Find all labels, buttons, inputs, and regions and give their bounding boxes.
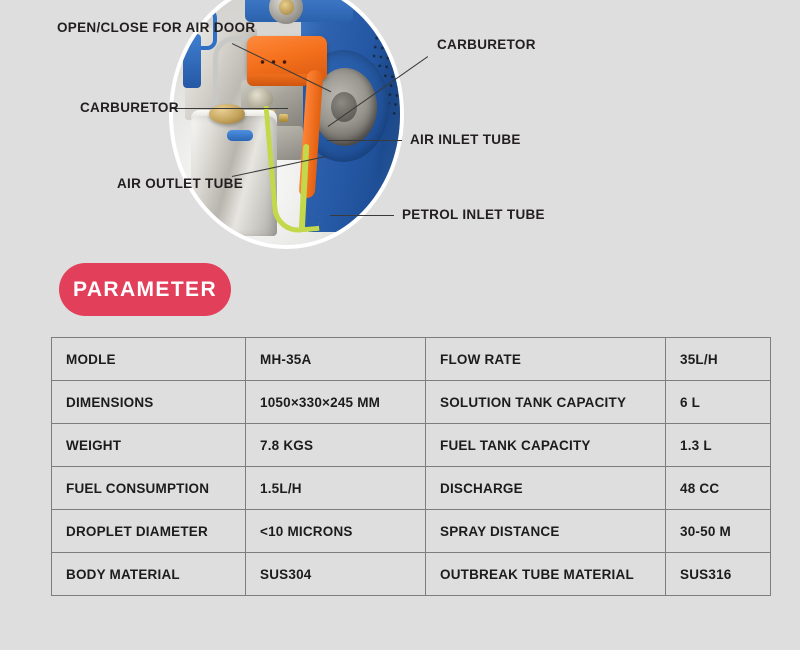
callout-carburetor-right: CARBURETOR (437, 37, 536, 52)
blue-bracket-shape (183, 34, 201, 88)
table-row: DIMENSIONS 1050×330×245 MM SOLUTION TANK… (52, 381, 771, 424)
spec-value-left: 1050×330×245 MM (246, 381, 426, 424)
spec-label-right: FLOW RATE (426, 338, 666, 381)
callout-petrol-inlet-tube: PETROL INLET TUBE (402, 207, 545, 222)
spec-label-right: OUTBREAK TUBE MATERIAL (426, 553, 666, 596)
spec-value-right: 48 CC (666, 467, 771, 510)
callout-open-close-air-door: OPEN/CLOSE FOR AIR DOOR (57, 20, 255, 35)
table-row: MODLE MH-35A FLOW RATE 35L/H (52, 338, 771, 381)
spec-label-left: BODY MATERIAL (52, 553, 246, 596)
parameter-badge-label: PARAMETER (73, 278, 217, 302)
spec-label-right: SPRAY DISTANCE (426, 510, 666, 553)
product-spec-page: OPEN/CLOSE FOR AIR DOOR CARBURETOR AIR O… (0, 0, 800, 650)
specification-table: MODLE MH-35A FLOW RATE 35L/H DIMENSIONS … (51, 337, 771, 596)
tank-cap-shape (209, 104, 245, 124)
table-row: BODY MATERIAL SUS304 OUTBREAK TUBE MATER… (52, 553, 771, 596)
spec-value-left: MH-35A (246, 338, 426, 381)
spec-value-left: SUS304 (246, 553, 426, 596)
spec-value-left: 1.5L/H (246, 467, 426, 510)
spec-label-left: DROPLET DIAMETER (52, 510, 246, 553)
leader-line-air-inlet-tube (327, 140, 402, 141)
spec-label-right: SOLUTION TANK CAPACITY (426, 381, 666, 424)
spec-value-left: <10 MICRONS (246, 510, 426, 553)
spec-label-left: WEIGHT (52, 424, 246, 467)
blue-clip-shape (227, 130, 253, 141)
callout-air-inlet-tube: AIR INLET TUBE (410, 132, 521, 147)
spec-label-right: DISCHARGE (426, 467, 666, 510)
spec-value-right: 35L/H (666, 338, 771, 381)
spec-value-right: SUS316 (666, 553, 771, 596)
table-row: WEIGHT 7.8 KGS FUEL TANK CAPACITY 1.3 L (52, 424, 771, 467)
spec-label-right: FUEL TANK CAPACITY (426, 424, 666, 467)
spec-value-right: 6 L (666, 381, 771, 424)
table-row: DROPLET DIAMETER <10 MICRONS SPRAY DISTA… (52, 510, 771, 553)
spec-label-left: MODLE (52, 338, 246, 381)
spec-value-left: 7.8 KGS (246, 424, 426, 467)
callout-carburetor-left: CARBURETOR (80, 100, 179, 115)
parameter-section-badge: PARAMETER (59, 263, 231, 316)
leader-line-carburetor-left (170, 108, 288, 109)
spec-value-right: 1.3 L (666, 424, 771, 467)
product-photo-image (173, 0, 400, 245)
leader-line-petrol-inlet-tube (330, 215, 394, 216)
callout-air-outlet-tube: AIR OUTLET TUBE (117, 176, 243, 191)
spec-label-left: DIMENSIONS (52, 381, 246, 424)
product-diagram: OPEN/CLOSE FOR AIR DOOR CARBURETOR AIR O… (0, 0, 800, 250)
product-photo (173, 0, 400, 245)
spec-value-right: 30-50 M (666, 510, 771, 553)
specification-table-body: MODLE MH-35A FLOW RATE 35L/H DIMENSIONS … (52, 338, 771, 596)
spec-label-left: FUEL CONSUMPTION (52, 467, 246, 510)
table-row: FUEL CONSUMPTION 1.5L/H DISCHARGE 48 CC (52, 467, 771, 510)
